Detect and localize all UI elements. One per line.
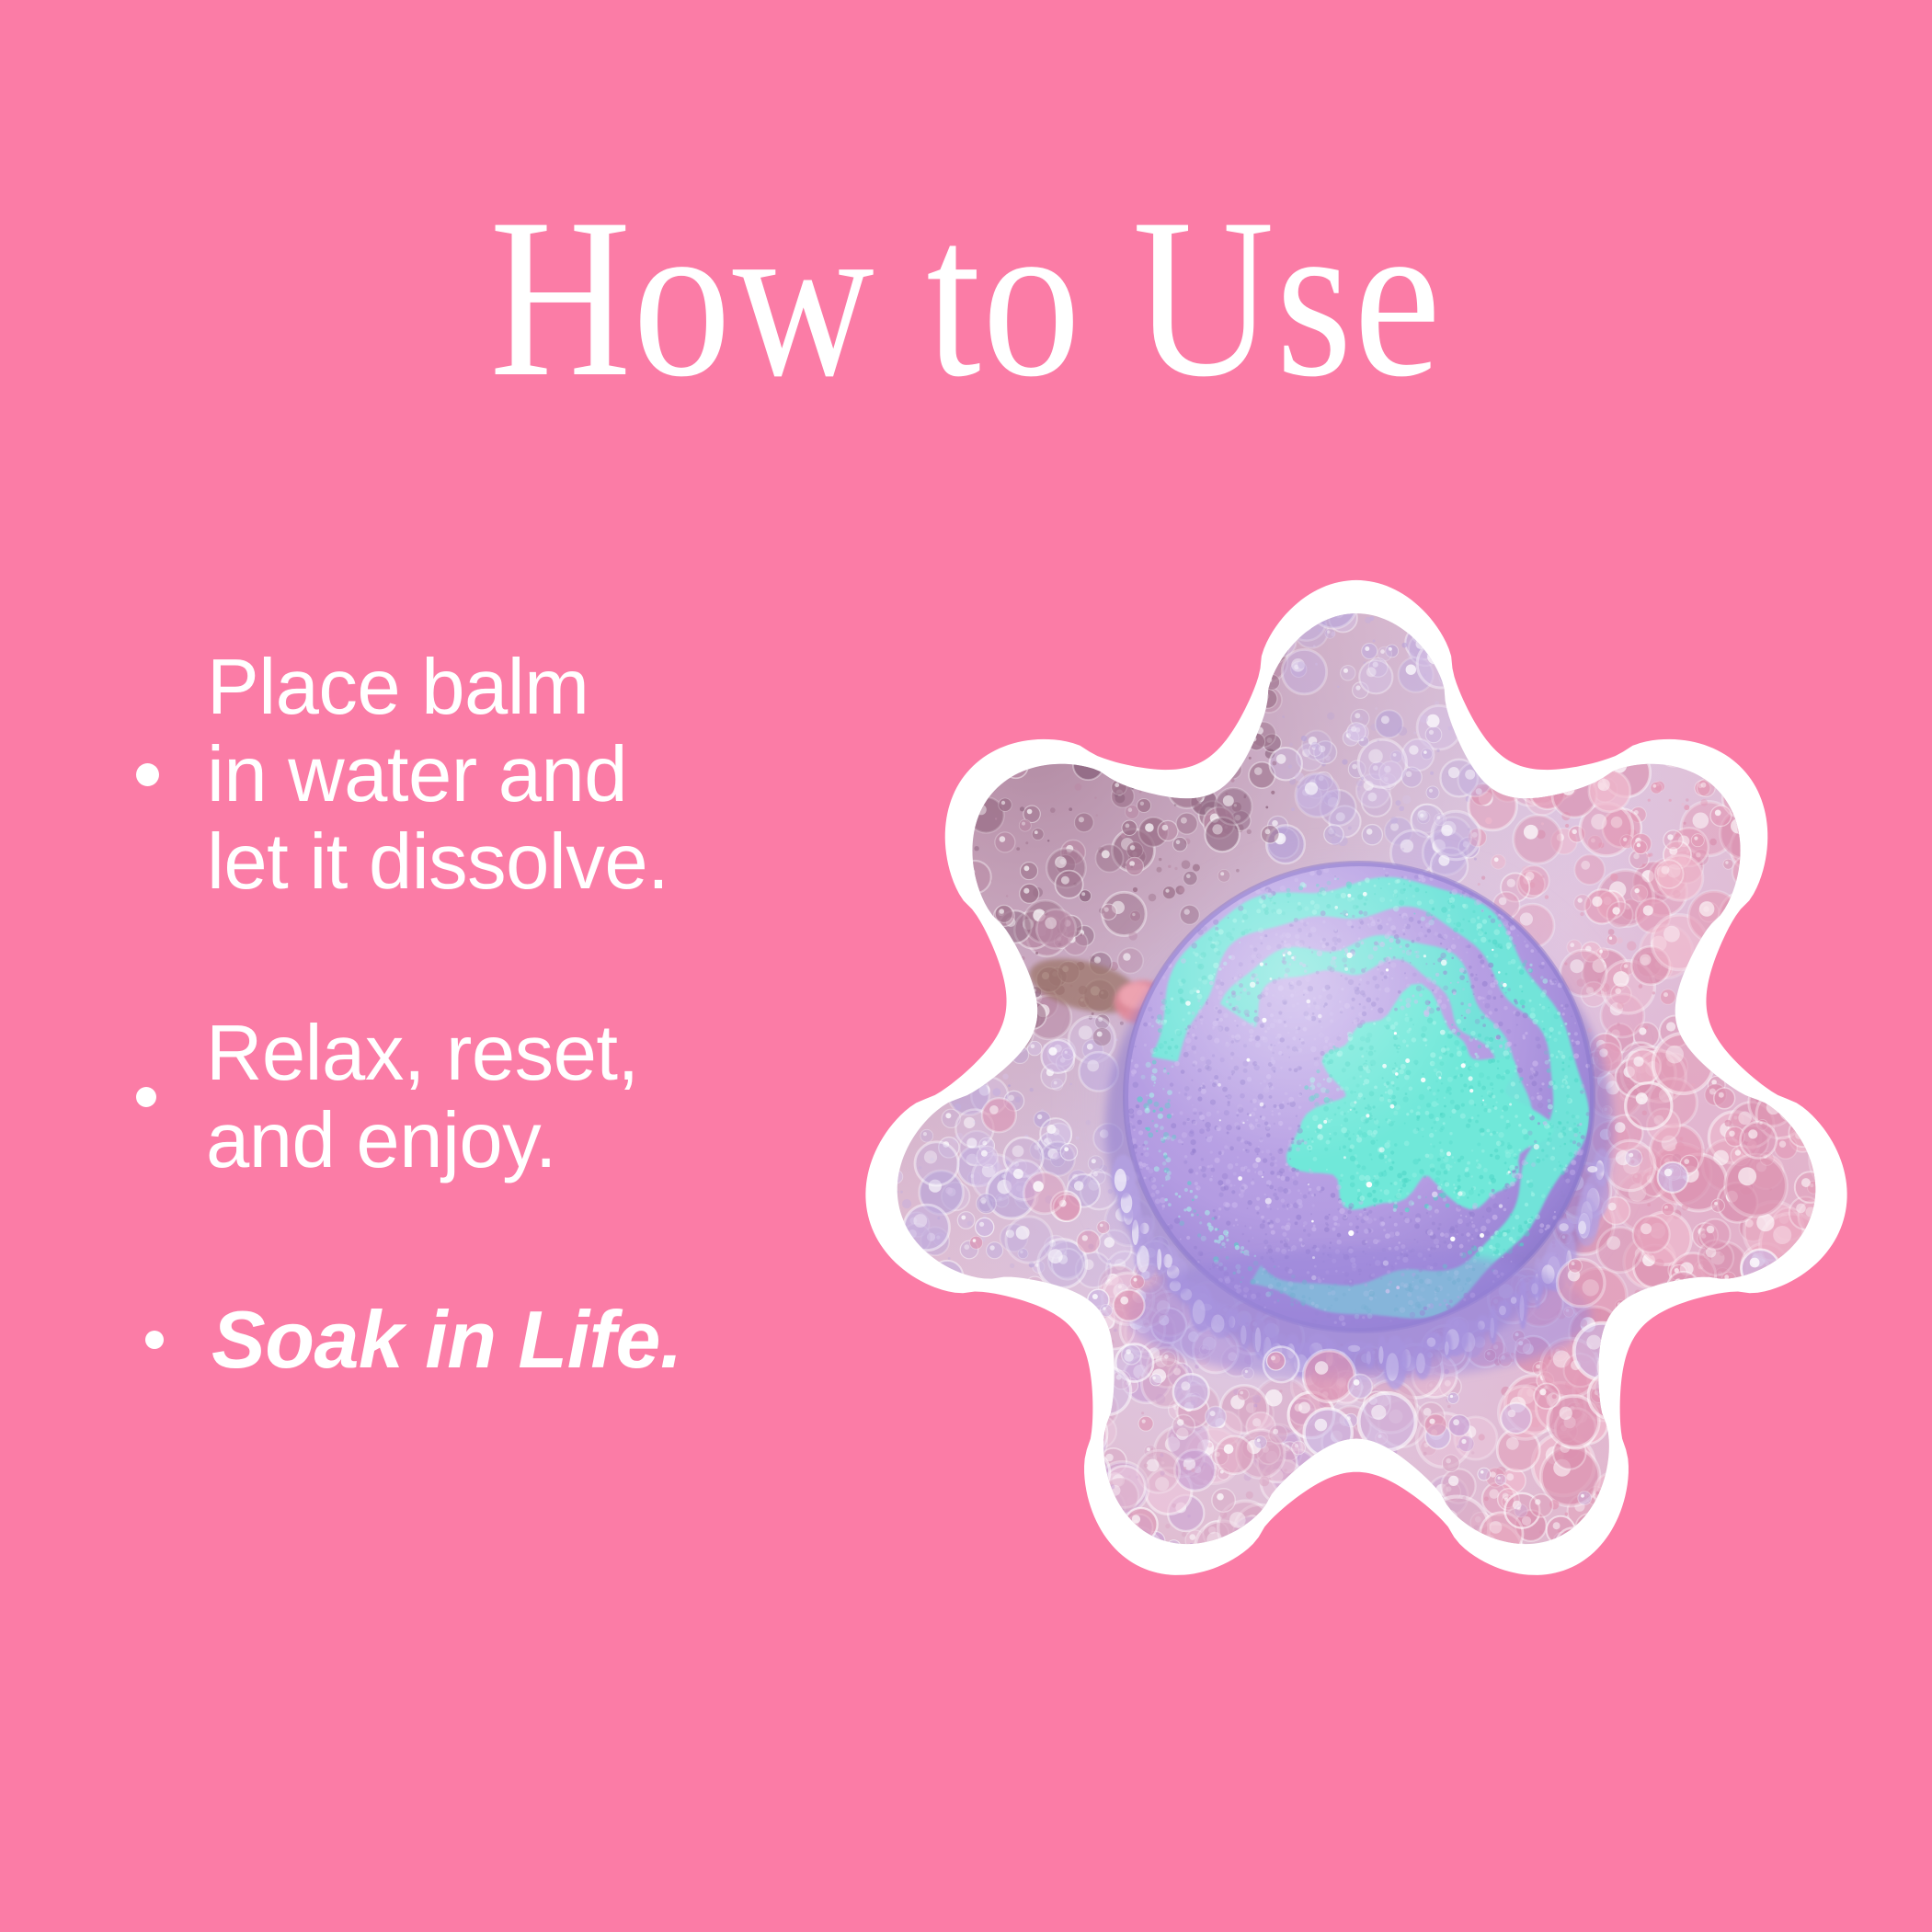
bullet-dot-icon [145,1331,164,1349]
flower-frame-svg [855,570,1858,1609]
list-item-label: Soak in Life. [211,1295,682,1386]
list-item-label: Place balm in water and let it dissolve. [207,644,669,907]
list-item: Soak in Life. [120,1295,883,1386]
bullet-dot-icon [136,763,159,786]
page-title: How to Use [135,184,1797,412]
list-item: Relax, reset, and enjoy. [120,1010,883,1184]
bath-bomb-photo [855,570,1858,1609]
instructions-list: Place balm in water and let it dissolve.… [120,644,883,1385]
list-item: Place balm in water and let it dissolve. [120,644,883,907]
how-to-use-poster: How to Use Place balm in water and let i… [0,0,1932,1932]
list-item-label: Relax, reset, and enjoy. [206,1010,639,1184]
bullet-dot-icon [136,1087,156,1107]
